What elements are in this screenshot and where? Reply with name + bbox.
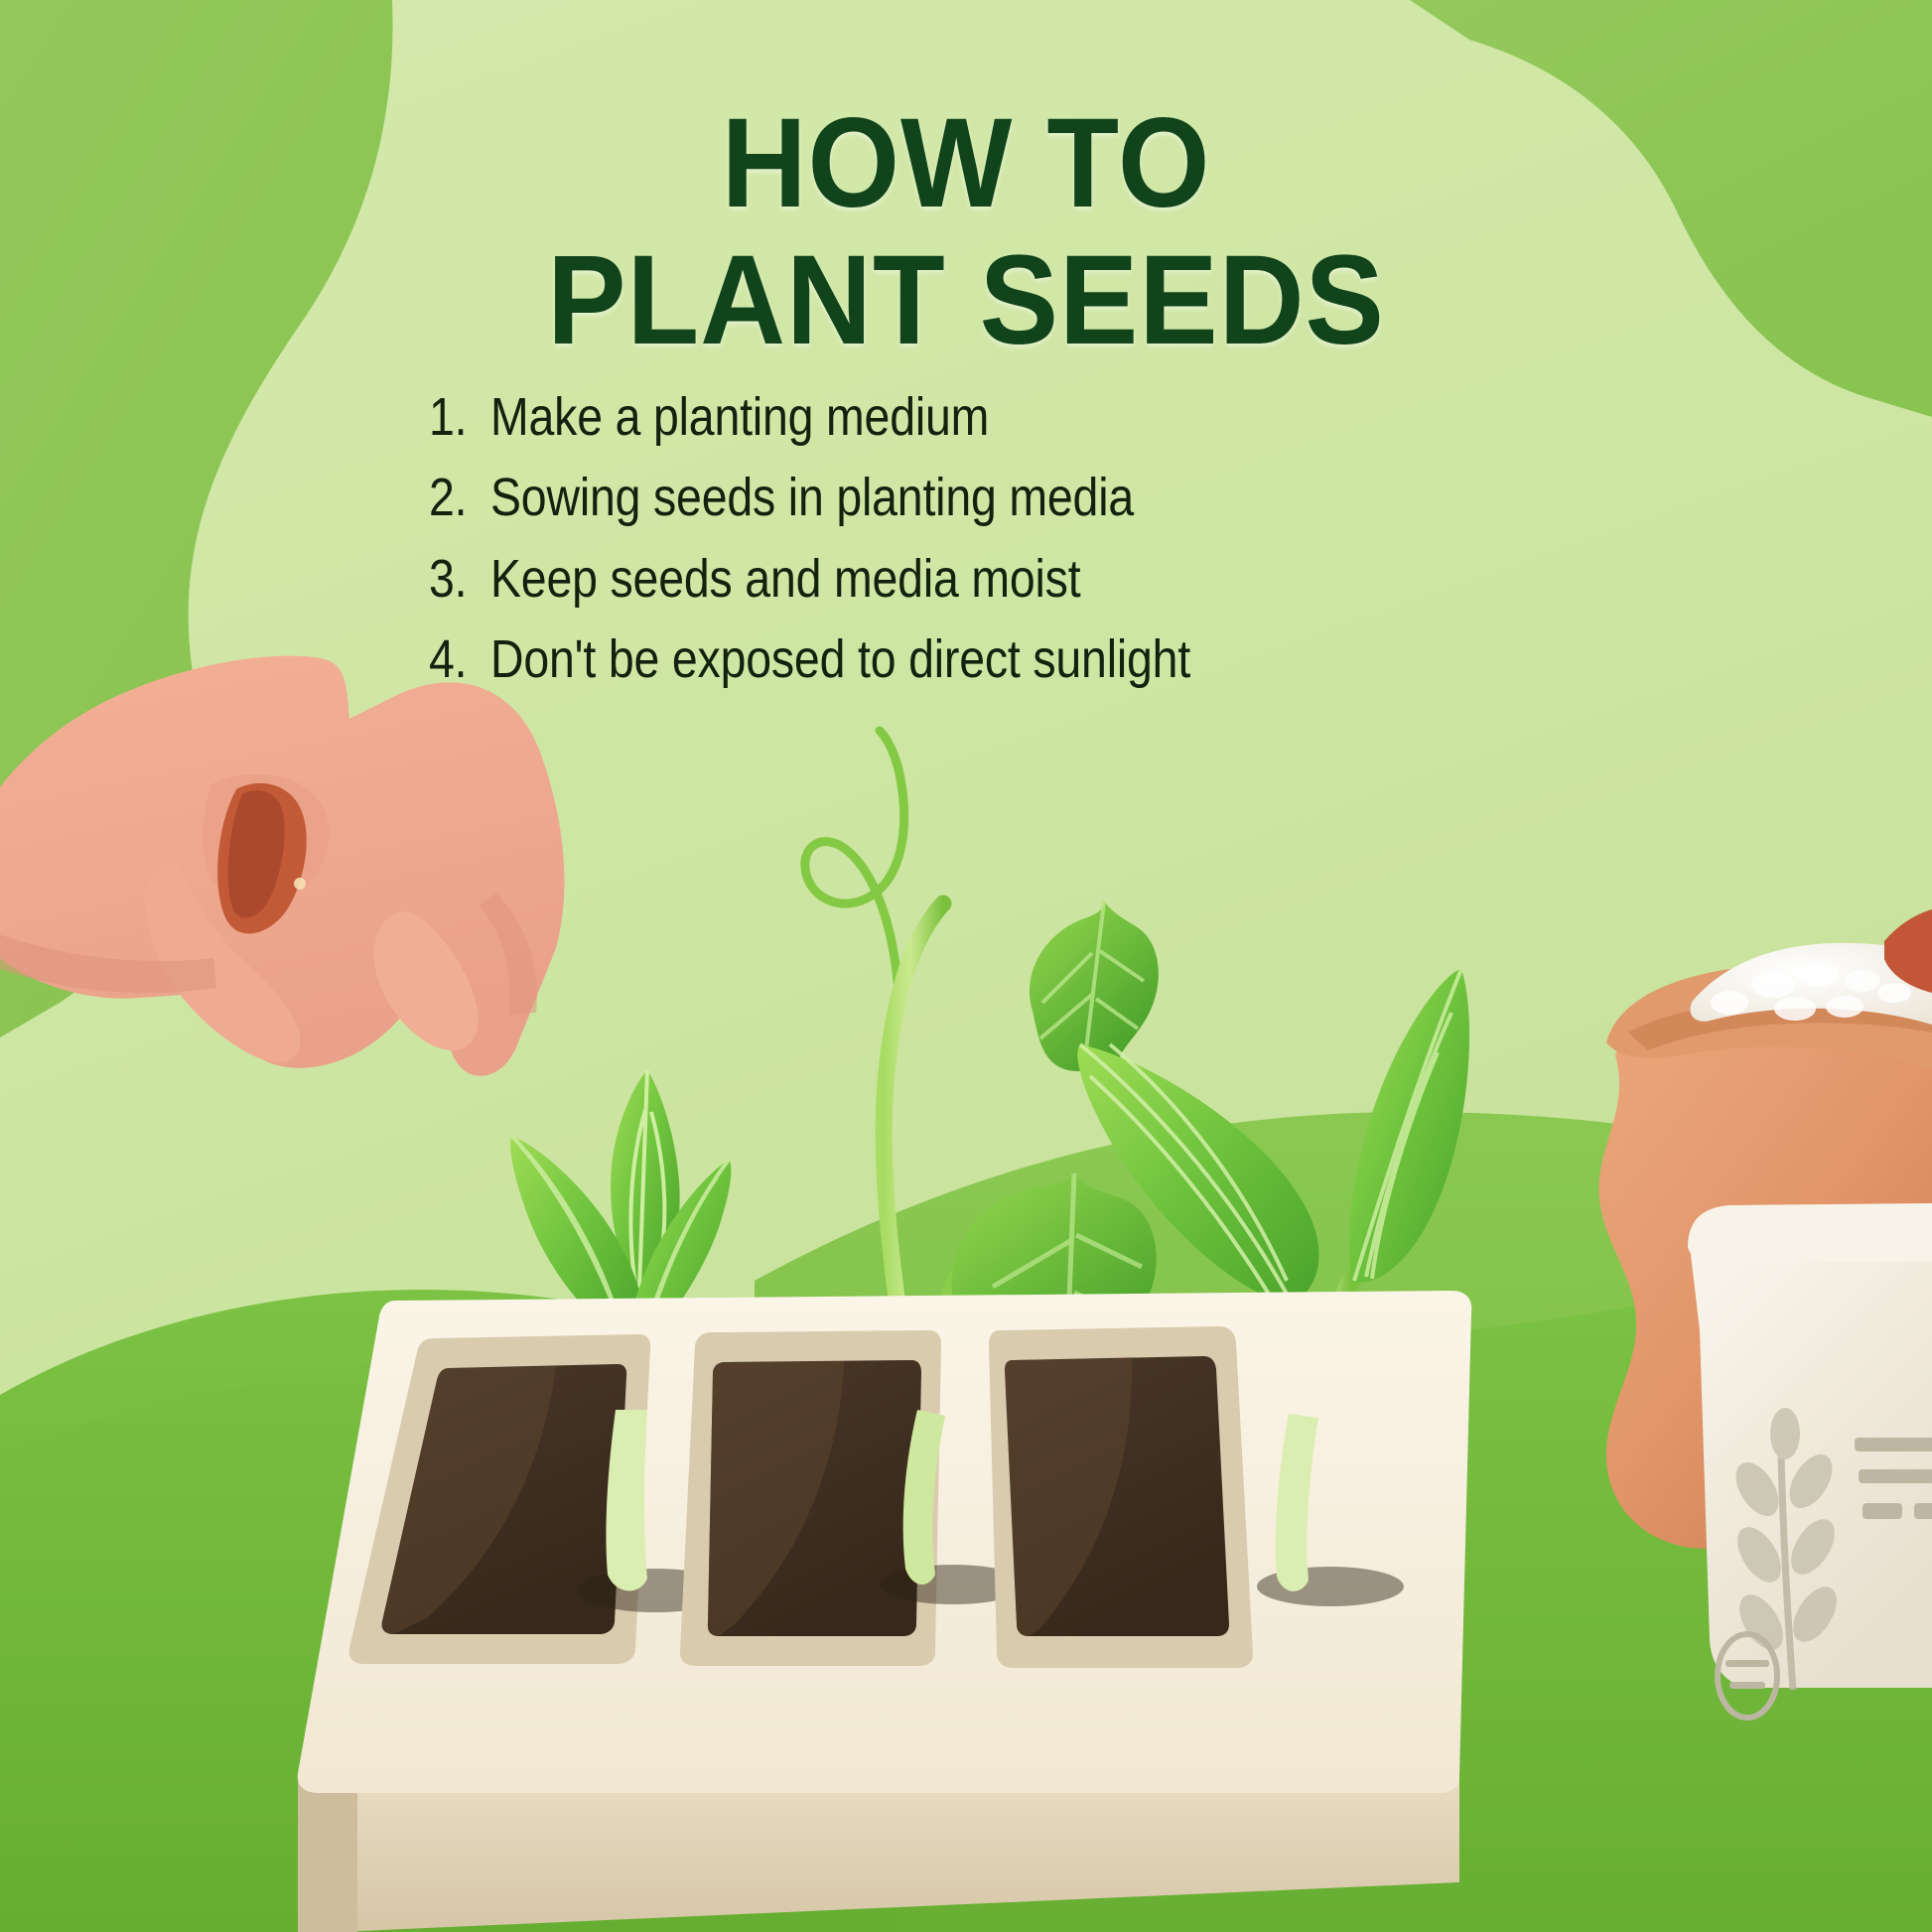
step-item-3: 3. Keep seeds and media moist [429, 544, 1600, 615]
step-text-4: Don't be exposed to direct sunlight [490, 624, 1190, 695]
step-item-4: 4. Don't be exposed to direct sunlight [429, 624, 1600, 695]
step-number-4: 4. [429, 624, 482, 695]
step-text-1: Make a planting medium [490, 382, 989, 453]
step-item-1: 1. Make a planting medium [429, 382, 1600, 453]
seed-highlight [294, 878, 306, 890]
step-text-3: Keep seeds and media moist [490, 544, 1080, 615]
seedling-tray [298, 1291, 1472, 1932]
tray-side-left [298, 1777, 357, 1932]
infographic-poster: HOW TO PLANT SEEDS 1. Make a planting me… [0, 0, 1932, 1932]
soil-bag-label-barcode [1855, 1438, 1932, 1519]
illustration-canvas [0, 0, 1932, 1932]
soil-bag-label-fold [1688, 1203, 1932, 1264]
step-number-3: 3. [429, 544, 482, 615]
stem-base-1 [606, 1410, 647, 1590]
step-number-2: 2. [429, 463, 482, 533]
step-item-2: 2. Sowing seeds in planting media [429, 463, 1600, 533]
step-number-1: 1. [429, 382, 482, 453]
step-text-2: Sowing seeds in planting media [490, 463, 1134, 533]
steps-list: 1. Make a planting medium 2. Sowing seed… [429, 382, 1600, 705]
